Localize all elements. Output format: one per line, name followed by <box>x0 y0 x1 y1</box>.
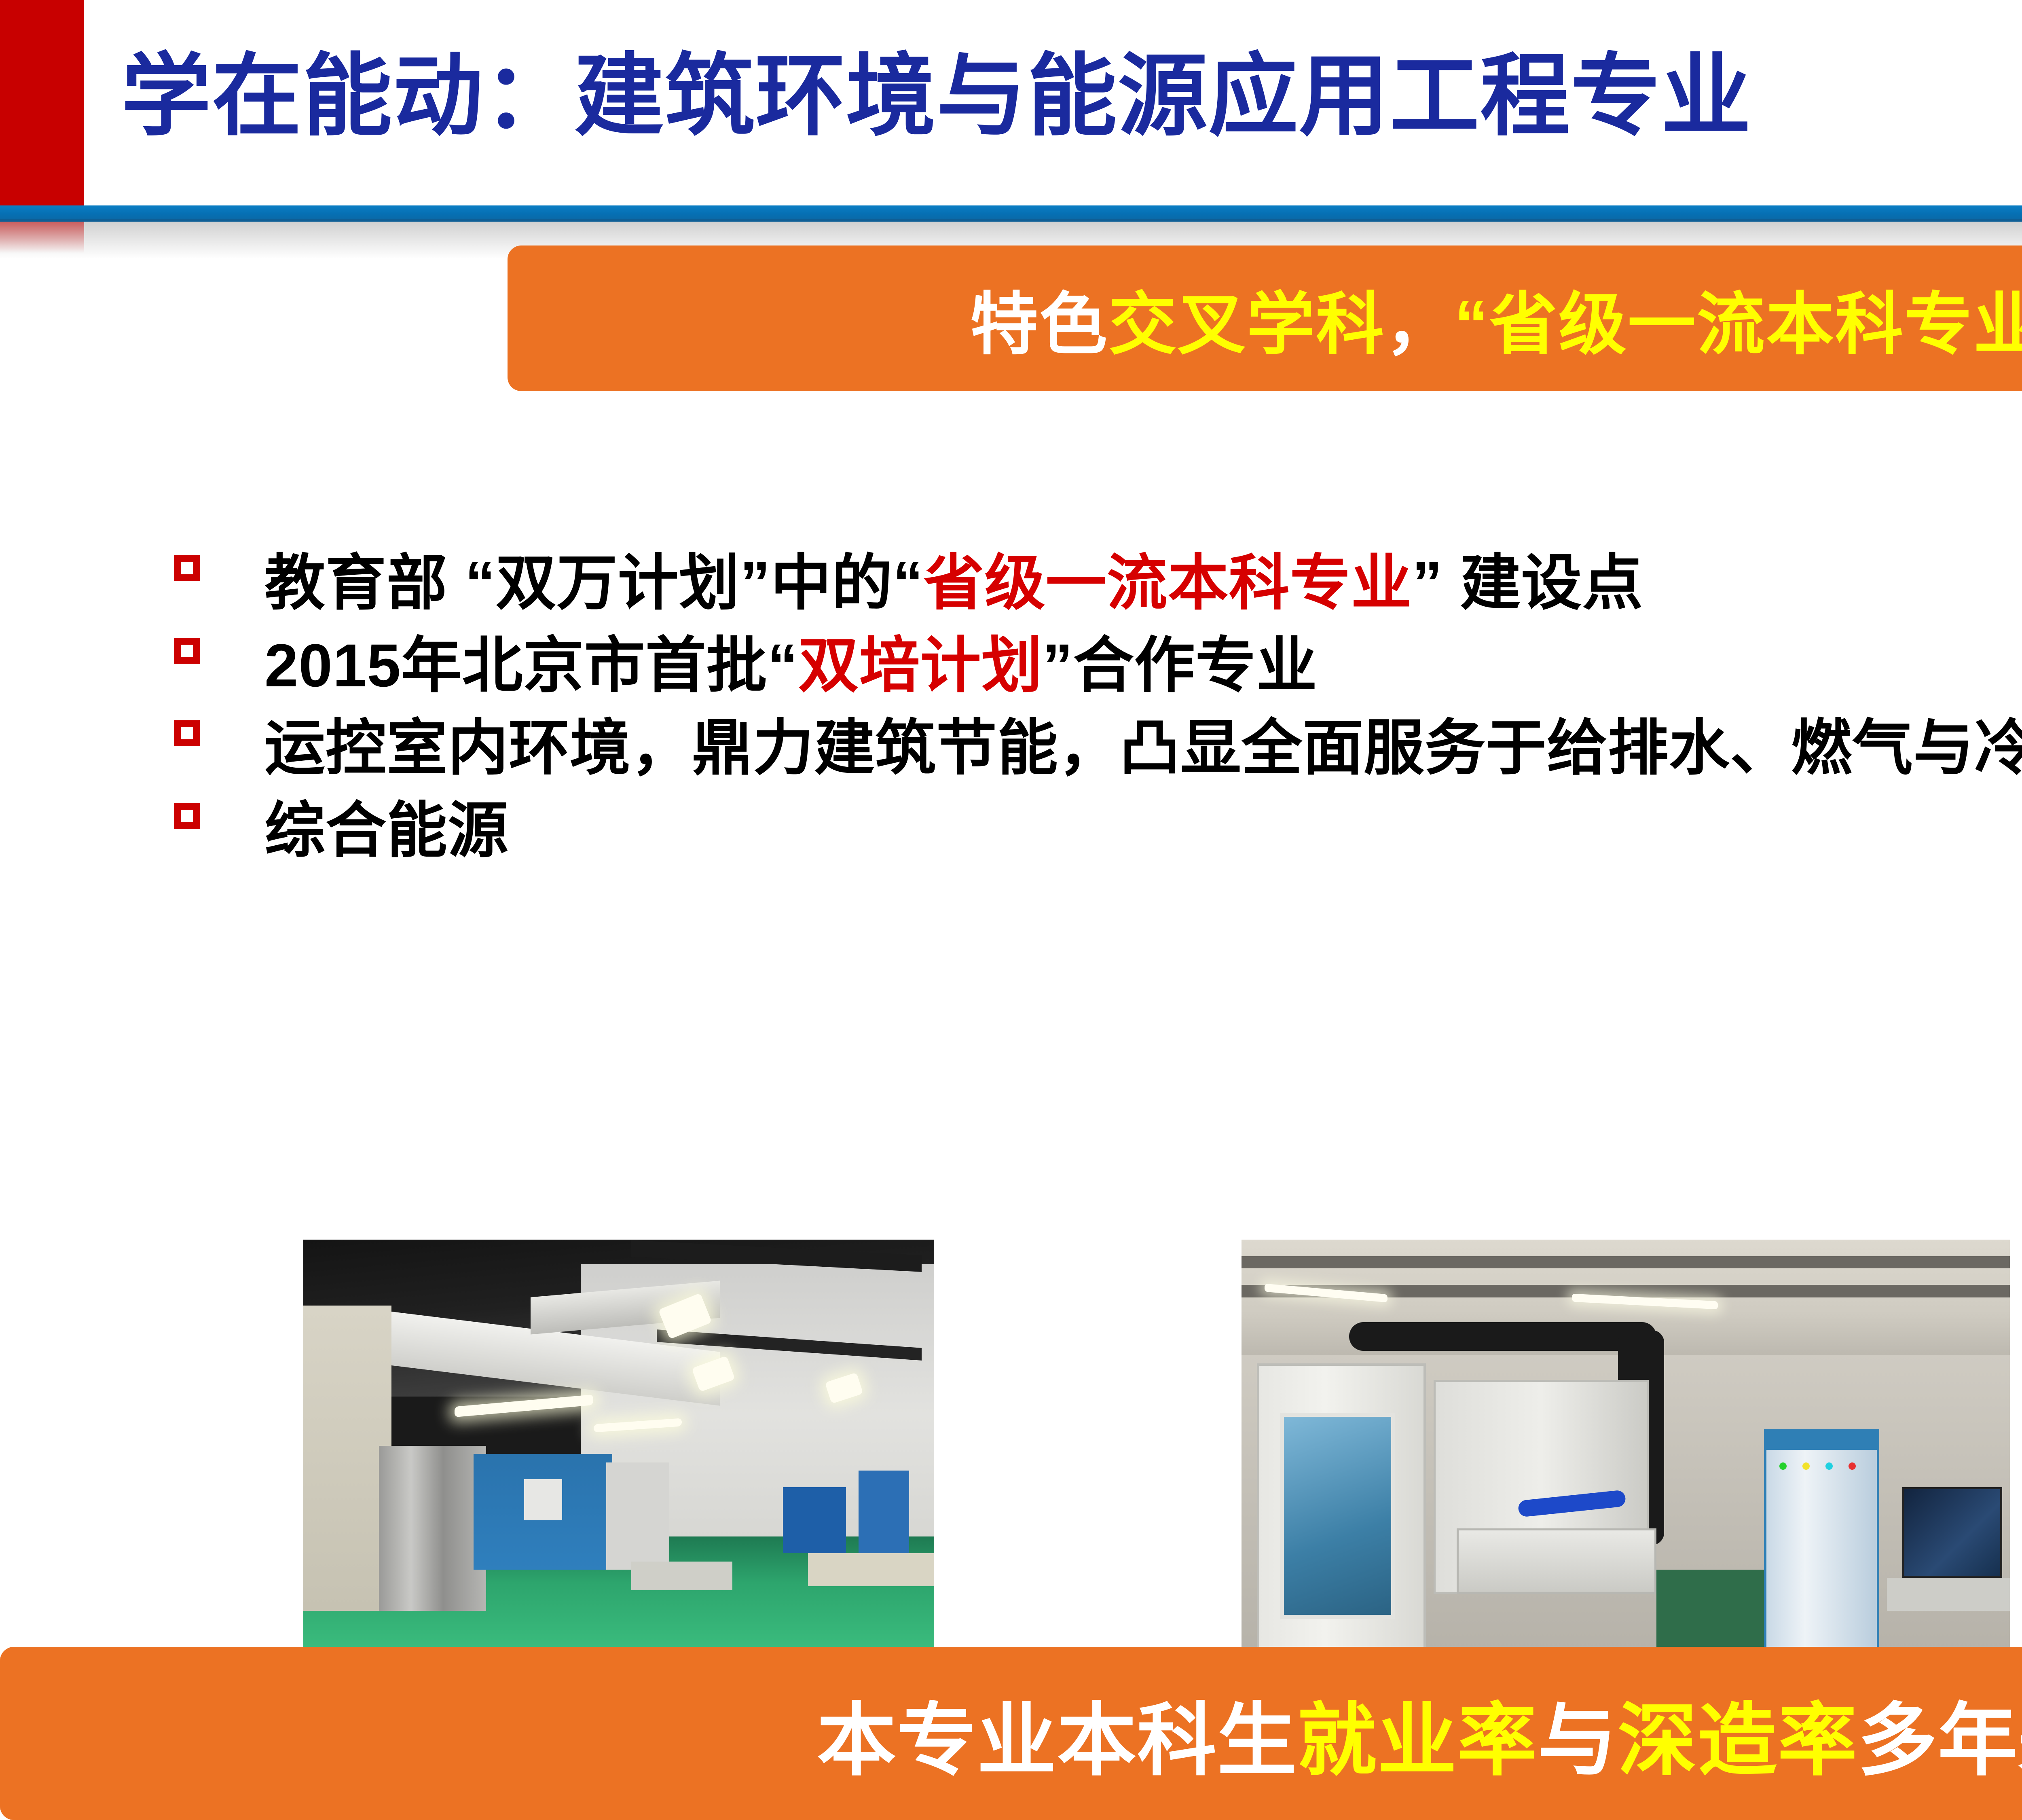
header-blue-rule <box>0 205 2022 219</box>
ac-led-green <box>1779 1462 1787 1470</box>
page-title: 学在能动：建筑环境与能源应用工程专业 <box>121 44 1752 149</box>
b1-seg-0: 教育部 “双万计划”中的“ <box>264 549 924 617</box>
ac-beam-1 <box>1242 1256 2010 1269</box>
banner-top-seg-1: 交叉学科 <box>1108 286 1385 362</box>
highlight-banner-top-text: 特色交叉学科，“省级一流本科专业”建设点 <box>970 269 2022 368</box>
lab-blue-unit-2 <box>859 1471 909 1561</box>
bullet-item-4: 综合能源 <box>174 796 2022 865</box>
bullet-item-3: 运控室内环境，鼎力建筑节能，凸显全面服务于给排水、燃气与冷热供应的专业特色 <box>174 713 2022 783</box>
lab-blue-unit-1 <box>783 1487 846 1553</box>
banner-top-seg-3: “省级一流本科专业” <box>1454 286 2022 362</box>
header-red-reflection <box>0 222 84 253</box>
photo-central-ac-rig-content <box>1242 1240 2010 1652</box>
ac-led-yellow <box>1802 1462 1810 1470</box>
lab-wall-left <box>303 1306 391 1611</box>
banner-bot-seg-0: 本专业本科生 <box>817 1696 1297 1785</box>
b1-seg-1: 省级一流本科专业 <box>924 549 1412 617</box>
highlight-banner-bottom: 本专业本科生就业率与深造率多年来持续高位 <box>0 1647 2022 1820</box>
highlight-banner-bottom-text: 本专业本科生就业率与深造率多年来持续高位 <box>817 1676 2022 1791</box>
ac-control-cabinet-header <box>1764 1429 1879 1450</box>
ac-cabinet-glass-door <box>1280 1413 1395 1619</box>
banner-bot-seg-3: 深造率 <box>1618 1696 1858 1785</box>
photo-central-ac-rig <box>1242 1240 2010 1652</box>
slide: 学在能动：建筑环境与能源应用工程专业 1958 · 华 北 电 力 大 <box>0 0 2022 1820</box>
highlight-banner-top: 特色交叉学科，“省级一流本科专业”建设点 <box>508 245 2022 391</box>
lab-pipe-rack <box>379 1446 486 1611</box>
lab-bench-right <box>808 1553 934 1586</box>
bullet-list: 教育部 “双万计划”中的“省级一流本科专业” 建设点 2015年北京市首批“双培… <box>174 548 2022 878</box>
bullet-item-1-text: 教育部 “双万计划”中的“省级一流本科专业” 建设点 <box>264 548 2022 618</box>
lab-lamp-strip <box>455 1395 593 1417</box>
b1-seg-2: ” 建设点 <box>1412 549 1643 617</box>
bullet-item-4-text: 综合能源 <box>264 796 2022 865</box>
b2-seg-2: ”合作专业 <box>1043 631 1318 699</box>
banner-bot-seg-4: 多年来 <box>1858 1696 2022 1785</box>
ac-plenum-box <box>1457 1528 1656 1594</box>
lab-bench-center <box>631 1562 732 1590</box>
banner-bot-seg-1: 就业率 <box>1297 1696 1538 1785</box>
photo-lab-corridor <box>303 1240 934 1652</box>
banner-top-seg-2: ， <box>1385 286 1454 362</box>
lab-grey-cabinet <box>606 1462 669 1570</box>
bullet-item-2: 2015年北京市首批“双培计划”合作专业 <box>174 631 2022 700</box>
ac-led-red <box>1849 1462 1856 1470</box>
ac-black-duct-horizontal <box>1349 1322 1656 1351</box>
photo-lab-corridor-content <box>303 1240 934 1652</box>
ac-led-cyan <box>1825 1462 1833 1470</box>
square-bullet-icon <box>174 638 200 664</box>
b2-seg-0: 2015年北京市首批“ <box>264 631 798 699</box>
square-bullet-icon <box>174 803 200 829</box>
header-red-accent-bar <box>0 0 84 207</box>
photo-strip: 华北电力大学 双焓差实验室 08:13:41 系统监控 实时曲线 数据报表 数据… <box>0 1240 2022 1652</box>
slide-header: 学在能动：建筑环境与能源应用工程专业 1958 · 华 北 电 力 大 <box>0 0 2022 226</box>
square-bullet-icon <box>174 555 200 581</box>
banner-top-seg-0: 特色 <box>970 286 1108 362</box>
banner-bot-seg-2: 与 <box>1538 1696 1618 1785</box>
bullet-item-2-text: 2015年北京市首批“双培计划”合作专业 <box>264 631 2022 700</box>
b2-seg-1: 双培计划 <box>798 631 1043 699</box>
ac-workstation-desk <box>1887 1578 2010 1611</box>
ac-green-frame <box>1656 1570 1764 1652</box>
bullet-item-3-text: 运控室内环境，鼎力建筑节能，凸显全面服务于给排水、燃气与冷热供应的专业特色 <box>264 713 2022 783</box>
lab-cabinet-window <box>524 1479 562 1520</box>
ac-workstation-monitor <box>1902 1487 2002 1578</box>
bullet-item-1: 教育部 “双万计划”中的“省级一流本科专业” 建设点 <box>174 548 2022 618</box>
square-bullet-icon <box>174 720 200 746</box>
